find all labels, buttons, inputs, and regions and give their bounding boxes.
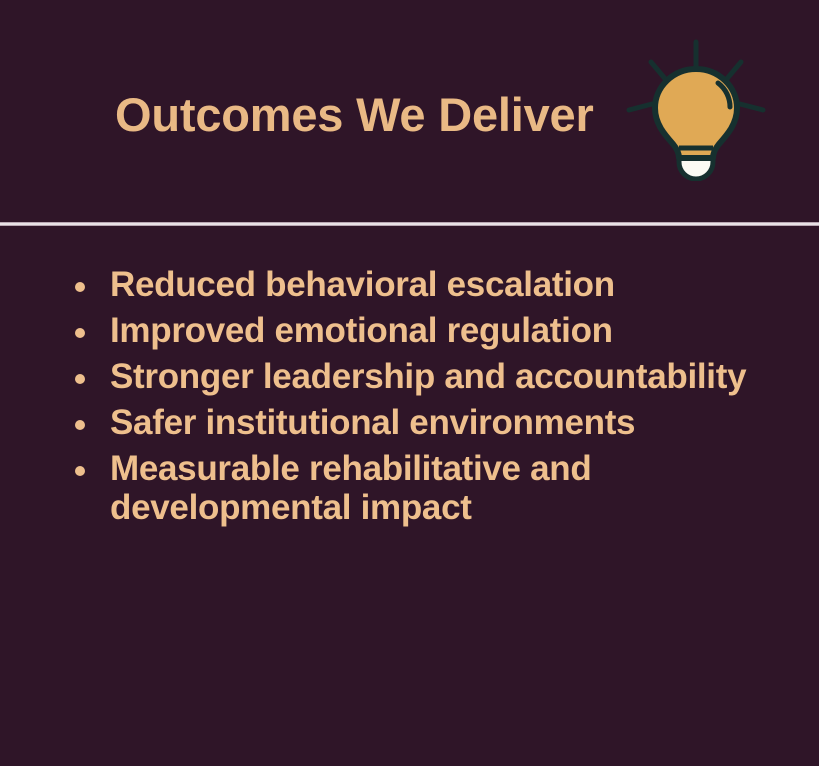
list-item-label: Safer institutional environments bbox=[110, 403, 799, 443]
list-item: Improved emotional regulation bbox=[62, 311, 799, 351]
bullet-dot-icon bbox=[75, 328, 85, 338]
lightbulb-icon bbox=[626, 36, 766, 181]
slide-header: Outcomes We Deliver bbox=[0, 0, 819, 222]
list-item: Measurable rehabilitative and developmen… bbox=[62, 449, 799, 529]
list-item-label: Measurable rehabilitative and developmen… bbox=[110, 449, 799, 529]
bullet-dot-icon bbox=[75, 374, 85, 384]
bullet-dot-icon bbox=[75, 282, 85, 292]
bullet-dot-icon bbox=[75, 466, 85, 476]
list-item-label: Improved emotional regulation bbox=[110, 311, 799, 351]
list-item-label: Stronger leadership and accountability bbox=[110, 357, 799, 397]
list-item: Reduced behavioral escalation bbox=[62, 265, 799, 305]
list-item: Stronger leadership and accountability bbox=[62, 357, 799, 397]
slide-root: Outcomes We Deliver bbox=[0, 0, 819, 766]
bullet-dot-icon bbox=[75, 420, 85, 430]
list-item: Safer institutional environments bbox=[62, 403, 799, 443]
slide-body: Reduced behavioral escalation Improved e… bbox=[0, 226, 819, 766]
list-item-label: Reduced behavioral escalation bbox=[110, 265, 799, 305]
outcomes-list: Reduced behavioral escalation Improved e… bbox=[62, 265, 799, 528]
page-title: Outcomes We Deliver bbox=[115, 91, 594, 138]
